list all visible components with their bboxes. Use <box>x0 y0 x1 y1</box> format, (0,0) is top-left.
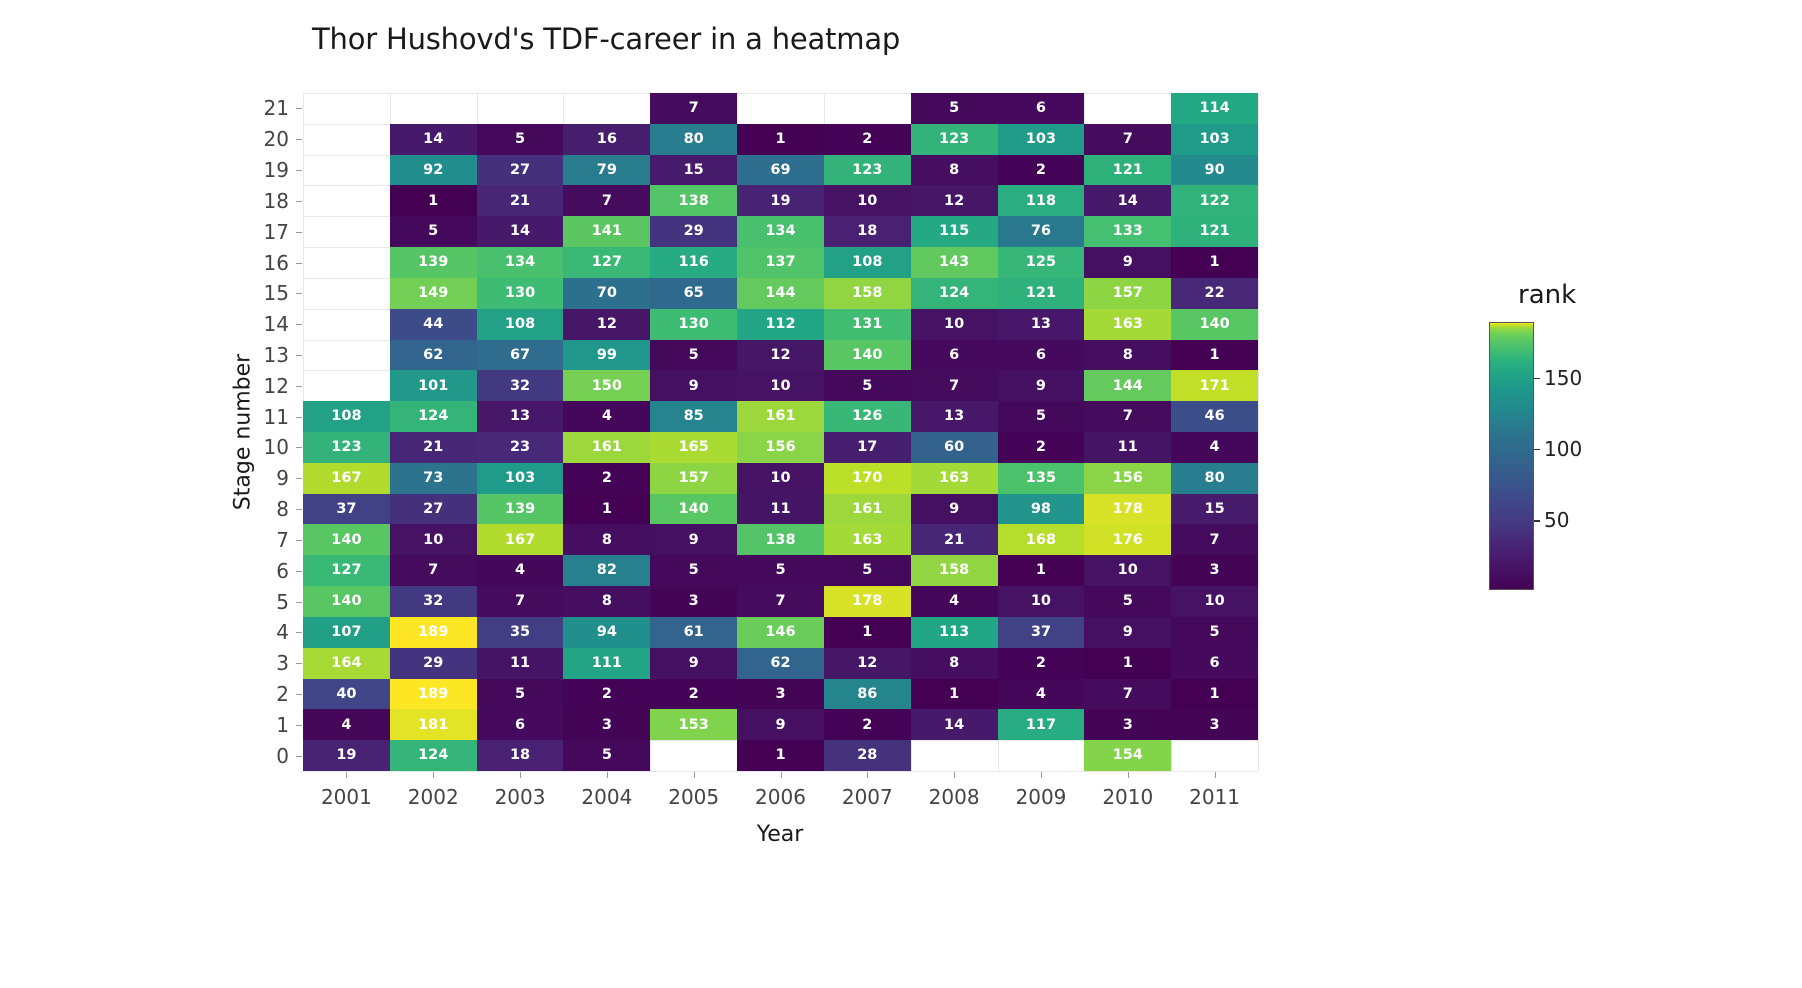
heatmap-cell[interactable]: 60 <box>911 432 998 463</box>
heatmap-cell[interactable]: 11 <box>737 494 824 525</box>
heatmap-cell[interactable]: 29 <box>650 216 737 247</box>
heatmap-cell[interactable]: 181 <box>390 709 477 740</box>
heatmap-cell[interactable]: 178 <box>824 586 911 617</box>
x-axis-tick-mark <box>1215 772 1216 778</box>
heatmap-cell[interactable]: 15 <box>650 155 737 186</box>
heatmap-cell[interactable]: 11 <box>1084 432 1171 463</box>
heatmap-cell[interactable]: 124 <box>390 401 477 432</box>
heatmap-cell[interactable]: 9 <box>998 370 1085 401</box>
heatmap-cell[interactable]: 134 <box>737 216 824 247</box>
heatmap-cell[interactable]: 80 <box>650 124 737 155</box>
heatmap-cell[interactable]: 27 <box>390 494 477 525</box>
y-axis-tick-mark <box>296 232 302 233</box>
heatmap-cell[interactable]: 10 <box>390 524 477 555</box>
heatmap-cell[interactable]: 10 <box>737 370 824 401</box>
x-axis-tick-label: 2008 <box>929 785 980 809</box>
y-axis-tick-mark <box>296 663 302 664</box>
heatmap-cell[interactable]: 3 <box>1171 709 1258 740</box>
heatmap-cell[interactable]: 94 <box>563 617 650 648</box>
heatmap-cell[interactable]: 13 <box>911 401 998 432</box>
heatmap-cell[interactable]: 19 <box>303 740 390 771</box>
heatmap-cell[interactable]: 5 <box>911 93 998 124</box>
heatmap-cell[interactable]: 8 <box>911 648 998 679</box>
x-axis-tick-mark <box>607 772 608 778</box>
heatmap-cell[interactable]: 69 <box>737 155 824 186</box>
x-axis-tick-mark <box>694 772 695 778</box>
heatmap-cell[interactable]: 18 <box>824 216 911 247</box>
y-axis-tick-label: 4 <box>276 620 289 644</box>
y-axis-tick-label: 8 <box>276 497 289 521</box>
colorbar-gradient[interactable] <box>1489 322 1534 590</box>
heatmap-cell[interactable]: 112 <box>737 309 824 340</box>
heatmap-cell[interactable]: 73 <box>390 463 477 494</box>
y-axis-tick-label: 16 <box>264 251 289 275</box>
heatmap-cell[interactable]: 10 <box>824 185 911 216</box>
grid-line-vertical <box>1258 93 1259 771</box>
heatmap-cell[interactable]: 21 <box>477 185 564 216</box>
heatmap-cell[interactable]: 111 <box>563 648 650 679</box>
heatmap-cell[interactable]: 65 <box>650 278 737 309</box>
heatmap-cell[interactable]: 130 <box>650 309 737 340</box>
y-axis-tick-label: 19 <box>264 158 289 182</box>
colorbar-tick-label: 100 <box>1544 437 1582 461</box>
heatmap-cell[interactable]: 7 <box>911 370 998 401</box>
heatmap-cell[interactable]: 7 <box>1084 401 1171 432</box>
heatmap-cell[interactable]: 168 <box>998 524 1085 555</box>
heatmap-cell[interactable]: 189 <box>390 617 477 648</box>
heatmap-cell[interactable]: 161 <box>737 401 824 432</box>
y-axis-tick-label: 13 <box>264 343 289 367</box>
heatmap-cell[interactable]: 4 <box>1171 432 1258 463</box>
heatmap-cell[interactable]: 6 <box>998 93 1085 124</box>
heatmap-cell[interactable]: 62 <box>737 648 824 679</box>
heatmap-cell[interactable]: 32 <box>390 586 477 617</box>
heatmap-cell[interactable]: 146 <box>737 617 824 648</box>
heatmap-cell[interactable]: 140 <box>1171 309 1258 340</box>
x-axis-tick-mark <box>520 772 521 778</box>
heatmap-cell[interactable]: 123 <box>303 432 390 463</box>
y-axis-tick-label: 7 <box>276 528 289 552</box>
heatmap-cell[interactable]: 140 <box>650 494 737 525</box>
heatmap-cell[interactable]: 4 <box>911 586 998 617</box>
heatmap-cell[interactable]: 124 <box>911 278 998 309</box>
heatmap-cell[interactable]: 156 <box>1084 463 1171 494</box>
heatmap-cell[interactable]: 4 <box>477 555 564 586</box>
heatmap-cell[interactable]: 139 <box>477 494 564 525</box>
heatmap-cell[interactable]: 1 <box>824 617 911 648</box>
heatmap-cell[interactable]: 21 <box>390 432 477 463</box>
heatmap-cell[interactable]: 164 <box>303 648 390 679</box>
x-axis-tick-label: 2010 <box>1102 785 1153 809</box>
y-axis-tick-mark <box>296 170 302 171</box>
heatmap-cell[interactable]: 5 <box>477 124 564 155</box>
heatmap-cell[interactable]: 13 <box>998 309 1085 340</box>
y-axis-tick-label: 15 <box>264 281 289 305</box>
y-axis-tick-mark <box>296 540 302 541</box>
heatmap-cell[interactable]: 13 <box>477 401 564 432</box>
colorbar-title: rank <box>1518 280 1576 310</box>
heatmap-cell[interactable]: 7 <box>1084 124 1171 155</box>
heatmap-cell[interactable]: 11 <box>477 648 564 679</box>
heatmap-cell[interactable]: 35 <box>477 617 564 648</box>
y-axis-tick-mark <box>296 509 302 510</box>
heatmap-cell[interactable]: 44 <box>390 309 477 340</box>
heatmap-cell[interactable]: 37 <box>998 617 1085 648</box>
heatmap-cell[interactable]: 1 <box>911 679 998 710</box>
heatmap-cell[interactable]: 10 <box>911 309 998 340</box>
heatmap-cell[interactable]: 1 <box>563 494 650 525</box>
heatmap-cell[interactable]: 108 <box>824 247 911 278</box>
heatmap-cell[interactable]: 7 <box>390 555 477 586</box>
x-axis-tick-label: 2005 <box>668 785 719 809</box>
heatmap-cell[interactable]: 2 <box>563 679 650 710</box>
y-axis-tick-mark <box>296 324 302 325</box>
heatmap-cell[interactable]: 1 <box>737 740 824 771</box>
heatmap-cell[interactable]: 10 <box>1084 555 1171 586</box>
y-axis-tick-mark <box>296 293 302 294</box>
heatmap-cell[interactable]: 10 <box>998 586 1085 617</box>
heatmap-cell[interactable]: 127 <box>303 555 390 586</box>
heatmap-cell[interactable]: 8 <box>1084 340 1171 371</box>
heatmap-cell[interactable]: 2 <box>824 124 911 155</box>
y-axis-tick-mark <box>296 571 302 572</box>
y-axis-tick-label: 11 <box>264 405 289 429</box>
heatmap-cell[interactable]: 82 <box>563 555 650 586</box>
x-axis-tick-mark <box>1041 772 1042 778</box>
heatmap-cell[interactable]: 70 <box>563 278 650 309</box>
heatmap-cell[interactable]: 131 <box>824 309 911 340</box>
heatmap-cell[interactable]: 40 <box>303 679 390 710</box>
heatmap-figure: Thor Hushovd's TDF-career in a heatmap 1… <box>0 0 1802 988</box>
x-axis-tick-mark <box>346 772 347 778</box>
heatmap-cell[interactable]: 1 <box>1171 679 1258 710</box>
y-axis-tick-label: 21 <box>264 96 289 120</box>
heatmap-cell[interactable]: 4 <box>303 709 390 740</box>
heatmap-cell[interactable]: 29 <box>390 648 477 679</box>
heatmap-cell[interactable]: 118 <box>998 185 1085 216</box>
heatmap-cell[interactable]: 139 <box>390 247 477 278</box>
heatmap-cell[interactable]: 113 <box>911 617 998 648</box>
y-axis-tick-label: 9 <box>276 466 289 490</box>
heatmap-cell[interactable]: 140 <box>303 586 390 617</box>
heatmap-cell[interactable]: 37 <box>303 494 390 525</box>
heatmap-cell[interactable]: 5 <box>1171 617 1258 648</box>
heatmap-cell[interactable]: 8 <box>563 586 650 617</box>
y-axis-tick-label: 14 <box>264 312 289 336</box>
heatmap-cell[interactable]: 5 <box>737 555 824 586</box>
heatmap-cell[interactable]: 6 <box>911 340 998 371</box>
heatmap-cell[interactable]: 1 <box>1171 247 1258 278</box>
heatmap-cell[interactable]: 7 <box>737 586 824 617</box>
heatmap-cell[interactable]: 23 <box>477 432 564 463</box>
heatmap-cell[interactable]: 158 <box>911 555 998 586</box>
y-axis-tick-mark <box>296 139 302 140</box>
colorbar-tick-label: 150 <box>1544 366 1582 390</box>
heatmap-cell[interactable]: 21 <box>911 524 998 555</box>
heatmap-cell[interactable]: 12 <box>824 648 911 679</box>
y-axis-tick-label: 3 <box>276 651 289 675</box>
heatmap-cell[interactable]: 144 <box>737 278 824 309</box>
heatmap-cell[interactable]: 115 <box>911 216 998 247</box>
x-axis-tick-label: 2002 <box>408 785 459 809</box>
heatmap-cell[interactable]: 4 <box>998 679 1085 710</box>
heatmap-cell[interactable]: 161 <box>563 432 650 463</box>
heatmap-cell[interactable]: 123 <box>911 124 998 155</box>
heatmap-cell[interactable]: 27 <box>477 155 564 186</box>
y-axis-tick-label: 17 <box>264 220 289 244</box>
y-axis-tick-label: 2 <box>276 682 289 706</box>
heatmap-cell[interactable]: 143 <box>911 247 998 278</box>
heatmap-cell[interactable]: 5 <box>563 740 650 771</box>
heatmap-cell[interactable]: 3 <box>1171 555 1258 586</box>
heatmap-cell[interactable]: 9 <box>1084 247 1171 278</box>
heatmap-cell[interactable]: 22 <box>1171 278 1258 309</box>
heatmap-cell[interactable]: 1 <box>1171 340 1258 371</box>
heatmap-cell[interactable]: 133 <box>1084 216 1171 247</box>
heatmap-cell[interactable]: 141 <box>563 216 650 247</box>
heatmap-cell[interactable]: 163 <box>911 463 998 494</box>
heatmap-cell[interactable]: 2 <box>563 463 650 494</box>
heatmap-cell[interactable]: 32 <box>477 370 564 401</box>
y-axis-tick-mark <box>296 694 302 695</box>
heatmap-cell[interactable]: 3 <box>563 709 650 740</box>
heatmap-cell[interactable]: 8 <box>911 155 998 186</box>
heatmap-cell[interactable]: 126 <box>824 401 911 432</box>
heatmap-cell[interactable]: 2 <box>824 709 911 740</box>
heatmap-cell[interactable]: 108 <box>477 309 564 340</box>
heatmap-cell[interactable]: 140 <box>303 524 390 555</box>
heatmap-cell[interactable]: 161 <box>824 494 911 525</box>
heatmap-cell[interactable]: 10 <box>1171 586 1258 617</box>
colorbar-tick-mark <box>1534 378 1540 380</box>
heatmap-cell[interactable]: 6 <box>477 709 564 740</box>
heatmap-cell[interactable]: 19 <box>737 185 824 216</box>
heatmap-cell[interactable]: 5 <box>998 401 1085 432</box>
heatmap-cell[interactable]: 14 <box>477 216 564 247</box>
heatmap-cell[interactable]: 103 <box>1171 124 1258 155</box>
heatmap-cell[interactable]: 157 <box>650 463 737 494</box>
y-axis-tick-mark <box>296 417 302 418</box>
heatmap-cell[interactable]: 140 <box>824 340 911 371</box>
y-axis-tick-label: 12 <box>264 374 289 398</box>
heatmap-cell[interactable]: 5 <box>824 370 911 401</box>
colorbar-tick-mark <box>1534 520 1540 522</box>
y-axis-tick-mark <box>296 447 302 448</box>
heatmap-cell[interactable]: 116 <box>650 247 737 278</box>
heatmap-cell[interactable]: 62 <box>390 340 477 371</box>
heatmap-cell[interactable]: 7 <box>477 586 564 617</box>
heatmap-cell[interactable]: 12 <box>737 340 824 371</box>
y-axis-tick-label: 0 <box>276 744 289 768</box>
heatmap-cell[interactable]: 5 <box>650 555 737 586</box>
heatmap-cell[interactable]: 14 <box>911 709 998 740</box>
heatmap-cell[interactable]: 137 <box>737 247 824 278</box>
heatmap-cell[interactable]: 167 <box>477 524 564 555</box>
y-axis-tick-label: 6 <box>276 559 289 583</box>
heatmap-cell[interactable]: 2 <box>998 432 1085 463</box>
y-axis-tick-mark <box>296 725 302 726</box>
heatmap-cell[interactable]: 125 <box>998 247 1085 278</box>
heatmap-cell[interactable]: 108 <box>303 401 390 432</box>
heatmap-cell[interactable]: 163 <box>1084 309 1171 340</box>
heatmap-cell[interactable]: 10 <box>737 463 824 494</box>
heatmap-cell[interactable]: 157 <box>1084 278 1171 309</box>
y-axis-tick-label: 5 <box>276 590 289 614</box>
heatmap-cell[interactable]: 17 <box>824 432 911 463</box>
x-axis-tick-label: 2003 <box>495 785 546 809</box>
x-axis-tick-label: 2006 <box>755 785 806 809</box>
heatmap-cell[interactable]: 8 <box>563 524 650 555</box>
heatmap-cell[interactable]: 3 <box>737 679 824 710</box>
y-axis-tick-label: 18 <box>264 189 289 213</box>
y-axis-tick-mark <box>296 355 302 356</box>
heatmap-cell[interactable]: 9 <box>911 494 998 525</box>
heatmap-cell[interactable]: 7 <box>1171 524 1258 555</box>
heatmap-cell[interactable]: 121 <box>1171 216 1258 247</box>
heatmap-cells[interactable]: 1912418512815441816315392141173340189522… <box>303 93 1258 771</box>
x-axis-tick-label: 2007 <box>842 785 893 809</box>
heatmap-cell[interactable]: 1 <box>998 555 1085 586</box>
heatmap-cell[interactable]: 9 <box>650 524 737 555</box>
heatmap-cell[interactable]: 165 <box>650 432 737 463</box>
heatmap-cell[interactable]: 14 <box>1084 185 1171 216</box>
heatmap-cell[interactable]: 2 <box>998 648 1085 679</box>
heatmap-cell[interactable]: 153 <box>650 709 737 740</box>
heatmap-cell[interactable]: 16 <box>563 124 650 155</box>
y-axis-tick-mark <box>296 386 302 387</box>
heatmap-cell[interactable]: 5 <box>477 679 564 710</box>
heatmap-cell[interactable]: 9 <box>650 370 737 401</box>
heatmap-cell[interactable]: 117 <box>998 709 1085 740</box>
heatmap-cell[interactable]: 123 <box>824 155 911 186</box>
heatmap-cell[interactable]: 3 <box>1084 709 1171 740</box>
y-axis-tick-mark <box>296 263 302 264</box>
heatmap-cell[interactable]: 121 <box>1084 155 1171 186</box>
x-axis-tick-label: 2011 <box>1189 785 1240 809</box>
heatmap-cell[interactable]: 130 <box>477 278 564 309</box>
heatmap-cell[interactable]: 6 <box>998 340 1085 371</box>
heatmap-cell[interactable]: 122 <box>1171 185 1258 216</box>
heatmap-cell[interactable]: 121 <box>998 278 1085 309</box>
heatmap-cell[interactable]: 4 <box>563 401 650 432</box>
heatmap-cell[interactable]: 92 <box>390 155 477 186</box>
heatmap-cell[interactable]: 154 <box>1084 740 1171 771</box>
heatmap-cell[interactable]: 134 <box>477 247 564 278</box>
heatmap-cell[interactable]: 5 <box>390 216 477 247</box>
heatmap-cell[interactable]: 76 <box>998 216 1085 247</box>
x-axis-tick-mark <box>1128 772 1129 778</box>
heatmap-cell[interactable]: 15 <box>1171 494 1258 525</box>
heatmap-cell[interactable]: 103 <box>998 124 1085 155</box>
heatmap-cell[interactable]: 144 <box>1084 370 1171 401</box>
heatmap-cell[interactable]: 138 <box>650 185 737 216</box>
x-axis-tick-mark <box>867 772 868 778</box>
heatmap-cell[interactable]: 2 <box>650 679 737 710</box>
heatmap-cell[interactable]: 7 <box>1084 679 1171 710</box>
heatmap-cell[interactable]: 90 <box>1171 155 1258 186</box>
heatmap-cell[interactable]: 86 <box>824 679 911 710</box>
chart-title: Thor Hushovd's TDF-career in a heatmap <box>312 22 900 56</box>
heatmap-cell[interactable]: 156 <box>737 432 824 463</box>
heatmap-cell[interactable]: 7 <box>650 93 737 124</box>
heatmap-cell[interactable]: 12 <box>563 309 650 340</box>
heatmap-cell[interactable]: 107 <box>303 617 390 648</box>
heatmap-cell[interactable]: 9 <box>1084 617 1171 648</box>
heatmap-cell[interactable]: 158 <box>824 278 911 309</box>
heatmap-cell[interactable]: 2 <box>998 155 1085 186</box>
heatmap-cell[interactable]: 80 <box>1171 463 1258 494</box>
heatmap-cell[interactable]: 114 <box>1171 93 1258 124</box>
heatmap-cell[interactable]: 150 <box>563 370 650 401</box>
y-axis-tick-mark <box>296 632 302 633</box>
heatmap-cell[interactable]: 14 <box>390 124 477 155</box>
heatmap-cell[interactable]: 12 <box>911 185 998 216</box>
heatmap-cell[interactable]: 1 <box>1084 648 1171 679</box>
heatmap-cell[interactable]: 99 <box>563 340 650 371</box>
heatmap-cell[interactable]: 28 <box>824 740 911 771</box>
heatmap-cell[interactable]: 163 <box>824 524 911 555</box>
heatmap-cell[interactable]: 103 <box>477 463 564 494</box>
y-axis-label: Stage number <box>231 354 256 510</box>
heatmap-cell[interactable]: 176 <box>1084 524 1171 555</box>
heatmap-cell[interactable]: 138 <box>737 524 824 555</box>
heatmap-cell[interactable]: 1 <box>737 124 824 155</box>
heatmap-cell[interactable]: 9 <box>737 709 824 740</box>
heatmap-cell[interactable]: 9 <box>650 648 737 679</box>
x-axis-label: Year <box>757 822 804 847</box>
colorbar-tick-mark <box>1534 449 1540 451</box>
heatmap-cell[interactable]: 1 <box>390 185 477 216</box>
heatmap-cell[interactable]: 5 <box>824 555 911 586</box>
heatmap-cell[interactable]: 124 <box>390 740 477 771</box>
y-axis-tick-mark <box>296 478 302 479</box>
x-axis-tick-label: 2004 <box>581 785 632 809</box>
heatmap-cell[interactable]: 46 <box>1171 401 1258 432</box>
heatmap-cell[interactable]: 5 <box>650 340 737 371</box>
heatmap-cell[interactable]: 167 <box>303 463 390 494</box>
heatmap-cell[interactable]: 6 <box>1171 648 1258 679</box>
heatmap-cell[interactable]: 5 <box>1084 586 1171 617</box>
heatmap-cell[interactable]: 98 <box>998 494 1085 525</box>
y-axis-tick-mark <box>296 602 302 603</box>
heatmap-cell[interactable]: 3 <box>650 586 737 617</box>
x-axis-tick-mark <box>781 772 782 778</box>
x-axis-tick-label: 2001 <box>321 785 372 809</box>
heatmap-cell[interactable]: 127 <box>563 247 650 278</box>
x-axis-tick-label: 2009 <box>1016 785 1067 809</box>
x-axis-tick-mark <box>954 772 955 778</box>
heatmap-cell[interactable]: 67 <box>477 340 564 371</box>
heatmap-cell[interactable]: 170 <box>824 463 911 494</box>
heatmap-cell[interactable]: 79 <box>563 155 650 186</box>
heatmap-plot-area[interactable]: 1912418512815441816315392141173340189522… <box>303 93 1258 771</box>
heatmap-cell[interactable]: 85 <box>650 401 737 432</box>
heatmap-cell[interactable]: 171 <box>1171 370 1258 401</box>
heatmap-cell[interactable]: 18 <box>477 740 564 771</box>
x-axis-tick-mark <box>433 772 434 778</box>
heatmap-cell[interactable]: 101 <box>390 370 477 401</box>
heatmap-cell[interactable]: 61 <box>650 617 737 648</box>
heatmap-cell[interactable]: 189 <box>390 679 477 710</box>
y-axis-tick-label: 20 <box>264 127 289 151</box>
y-axis-tick-mark <box>296 108 302 109</box>
heatmap-cell[interactable]: 149 <box>390 278 477 309</box>
y-axis-tick-label: 10 <box>264 435 289 459</box>
heatmap-cell[interactable]: 7 <box>563 185 650 216</box>
y-axis-tick-label: 1 <box>276 713 289 737</box>
heatmap-cell[interactable]: 135 <box>998 463 1085 494</box>
heatmap-cell[interactable]: 178 <box>1084 494 1171 525</box>
